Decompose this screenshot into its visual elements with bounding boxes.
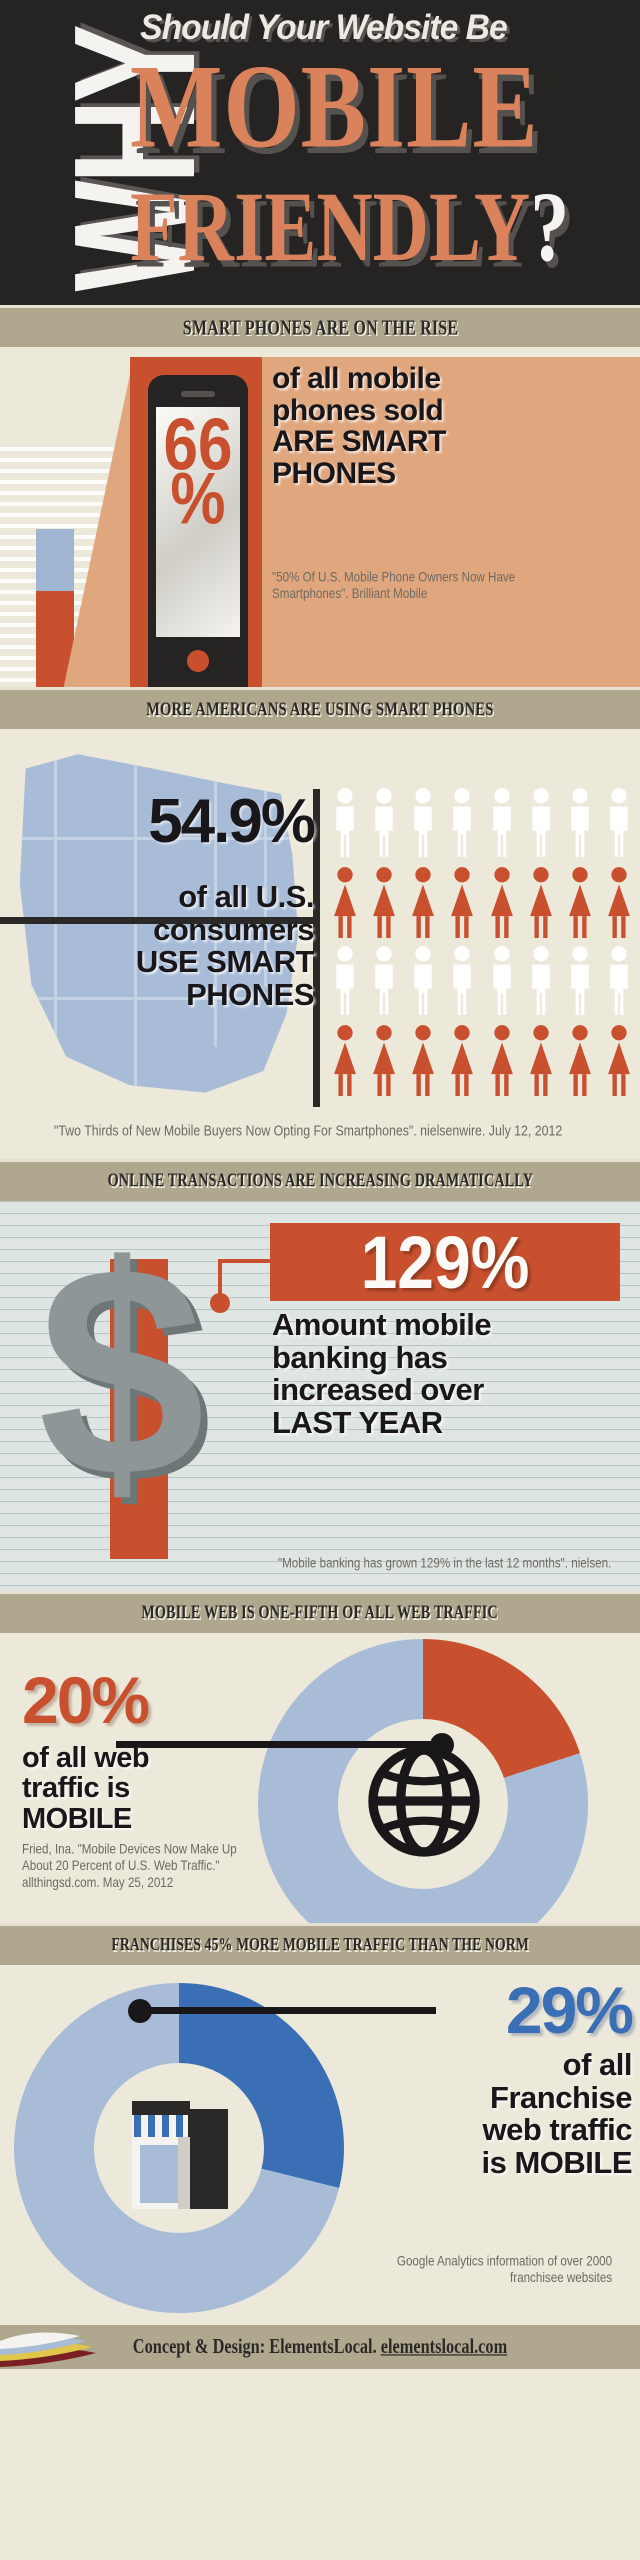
male-figure-icon [487, 945, 517, 1022]
male-figure-icon [565, 787, 595, 864]
question-mark: ? [530, 171, 569, 282]
citation: Google Analytics information of over 200… [348, 2253, 612, 2286]
globe-icon [366, 1743, 482, 1859]
friendly-text: FRIENDLY [130, 171, 530, 282]
header-line-mobile: MOBILE [130, 54, 640, 160]
storefront-icon [120, 2083, 240, 2213]
female-figure-icon [447, 866, 477, 943]
female-figure-icon [526, 866, 556, 943]
stat-lines: of all web traffic is MOBILE [22, 1743, 272, 1834]
stat-line: banking has [272, 1342, 637, 1375]
stat-lines: of all U.S. consumers USE SMART PHONES [36, 881, 314, 1011]
footer-text: Concept & Design: ElementsLocal. element… [133, 2335, 507, 2359]
female-figure-icon [330, 1024, 360, 1101]
female-figure-icon [330, 866, 360, 943]
diagonal-wedge [64, 357, 134, 687]
footer-credit-bar: Concept & Design: ElementsLocal. element… [0, 2325, 640, 2369]
section-5-citation-wrap: Google Analytics information of over 200… [348, 2253, 632, 2284]
stat-lines: of all Franchise web traffic is MOBILE [348, 2049, 632, 2179]
stat-line: LAST YEAR [272, 1407, 637, 1440]
stat-line: of all U.S. [36, 881, 314, 914]
elementslocal-logo-icon [0, 2325, 150, 2369]
male-figure-icon [565, 945, 595, 1022]
stat-percent-sign: % [170, 467, 225, 533]
stat-line: traffic is [22, 1773, 272, 1803]
stat-line: phones sold [272, 395, 632, 427]
section-mobile-web-traffic: 20% of all web traffic is MOBILE Fried, … [0, 1633, 640, 1923]
footer-credit: Concept & Design: ElementsLocal. [133, 2335, 381, 2358]
leader-dot [128, 1999, 152, 2023]
stat-line: of all mobile [272, 363, 632, 395]
stat-value-549: 54.9% [36, 791, 314, 853]
rule-line [0, 1573, 640, 1574]
citation: "50% Of U.S. Mobile Phone Owners Now Hav… [272, 569, 579, 602]
citation: Fried, Ina. "Mobile Devices Now Make Up … [22, 1841, 255, 1891]
stat-badge-129: 129% [270, 1223, 620, 1301]
female-figure-icon [447, 1024, 477, 1101]
male-figure-icon [604, 787, 634, 864]
section-2-citation-wrap: "Two Thirds of New Mobile Buyers Now Opt… [14, 1121, 630, 1139]
dollar-sign-icon: $ [38, 1221, 205, 1521]
section-5-text: 29% of all Franchise web traffic is MOBI… [348, 1977, 632, 2179]
female-figure-icon [604, 866, 634, 943]
male-figure-icon [330, 787, 360, 864]
section-2-text: 54.9% of all U.S. consumers USE SMART PH… [36, 791, 314, 1011]
section-band-2-label: MORE AMERICANS ARE USING SMART PHONES [146, 698, 493, 721]
section-band-3-label: ONLINE TRANSACTIONS ARE INCREASING DRAMA… [107, 1171, 532, 1192]
female-figure-icon [526, 1024, 556, 1101]
pictogram-row [330, 787, 634, 864]
people-pictogram [330, 787, 634, 1103]
female-figure-icon [604, 1024, 634, 1101]
section-3-citation-wrap: "Mobile banking has grown 129% in the la… [196, 1553, 636, 1571]
section-4-text: 20% of all web traffic is MOBILE [22, 1667, 272, 1834]
male-figure-icon [604, 945, 634, 1022]
pictogram-row [330, 866, 634, 943]
phone-screen: 66 % [156, 407, 240, 637]
section-online-transactions: $ 129% Amount mobile banking has increas… [0, 1201, 640, 1591]
divider-vertical [313, 789, 320, 1107]
male-figure-icon [369, 787, 399, 864]
stat-line: ARE SMART [272, 426, 632, 458]
female-figure-icon [565, 1024, 595, 1101]
section-band-4-label: MOBILE WEB IS ONE-FIFTH OF ALL WEB TRAFF… [142, 1603, 498, 1624]
section-1-citation-wrap: "50% Of U.S. Mobile Phone Owners Now Hav… [272, 569, 602, 599]
rule-line [0, 1549, 640, 1550]
pictogram-row [330, 1024, 634, 1101]
pictogram-row [330, 945, 634, 1022]
smartphone-icon: 66 % [148, 375, 248, 687]
stat-value-129: 129% [361, 1225, 530, 1299]
stat-value-20: 20% [22, 1667, 272, 1733]
header-line-friendly: FRIENDLY? [130, 182, 636, 272]
male-figure-icon [408, 787, 438, 864]
male-figure-icon [447, 787, 477, 864]
section-1-text: of all mobile phones sold ARE SMART PHON… [272, 363, 632, 489]
stat-line: Amount mobile [272, 1309, 637, 1342]
leader-line-vertical [218, 1259, 222, 1301]
stat-line: consumers [36, 914, 314, 947]
leader-line-horizontal [218, 1259, 274, 1263]
female-figure-icon [565, 866, 595, 943]
header-title-block: Should Your Website Be MOBILE FRIENDLY? [130, 8, 636, 253]
female-figure-icon [369, 866, 399, 943]
section-band-1: SMART PHONES ARE ON THE RISE [0, 305, 640, 347]
stat-line: of all [348, 2049, 632, 2082]
stat-value-29: 29% [348, 1977, 632, 2043]
stat-line: PHONES [36, 979, 314, 1012]
male-figure-icon [369, 945, 399, 1022]
section-band-1-label: SMART PHONES ARE ON THE RISE [182, 315, 457, 340]
stat-line: MOBILE [22, 1804, 272, 1834]
male-figure-icon [408, 945, 438, 1022]
female-figure-icon [408, 866, 438, 943]
leader-dot [430, 1733, 454, 1757]
section-band-2: MORE AMERICANS ARE USING SMART PHONES [0, 687, 640, 729]
stat-line: USE SMART [36, 946, 314, 979]
section-band-4: MOBILE WEB IS ONE-FIFTH OF ALL WEB TRAFF… [0, 1591, 640, 1633]
section-franchise-traffic: 29% of all Franchise web traffic is MOBI… [0, 1965, 640, 2325]
section-4-citation-wrap: Fried, Ina. "Mobile Devices Now Make Up … [22, 1841, 272, 1885]
stat-line: Franchise [348, 2082, 632, 2115]
male-figure-icon [330, 945, 360, 1022]
stat-line: PHONES [272, 458, 632, 490]
stat-line: web traffic [348, 2114, 632, 2147]
male-figure-icon [526, 945, 556, 1022]
female-figure-icon [408, 1024, 438, 1101]
infographic-header: WHY Should Your Website Be MOBILE FRIEND… [0, 0, 640, 305]
phone-speaker [181, 391, 215, 397]
section-band-3: ONLINE TRANSACTIONS ARE INCREASING DRAMA… [0, 1159, 640, 1201]
female-figure-icon [487, 866, 517, 943]
footer-link[interactable]: elementslocal.com [381, 2335, 507, 2358]
male-figure-icon [487, 787, 517, 864]
stat-line: of all web [22, 1743, 272, 1773]
section-smartphones-on-the-rise: 66 % of all mobile phones sold ARE SMART… [0, 347, 640, 687]
citation: "Two Thirds of New Mobile Buyers Now Opt… [54, 1122, 562, 1139]
infographic-page: WHY Should Your Website Be MOBILE FRIEND… [0, 0, 640, 2560]
female-figure-icon [487, 1024, 517, 1101]
male-figure-icon [526, 787, 556, 864]
section-band-5: FRANCHISES 45% MORE MOBILE TRAFFIC THAN … [0, 1923, 640, 1965]
section-americans-using-smartphones: 54.9% of all U.S. consumers USE SMART PH… [0, 729, 640, 1159]
rule-line [0, 1201, 640, 1202]
stat-line: is MOBILE [348, 2147, 632, 2180]
stat-line: increased over [272, 1374, 637, 1407]
section-band-5-label: FRANCHISES 45% MORE MOBILE TRAFFIC THAN … [111, 1935, 529, 1956]
section-3-text: Amount mobile banking has increased over… [272, 1309, 637, 1439]
female-figure-icon [369, 1024, 399, 1101]
male-figure-icon [447, 945, 477, 1022]
citation: "Mobile banking has grown 129% in the la… [278, 1555, 611, 1572]
phone-home-button [187, 650, 209, 672]
rule-line [0, 1585, 640, 1586]
